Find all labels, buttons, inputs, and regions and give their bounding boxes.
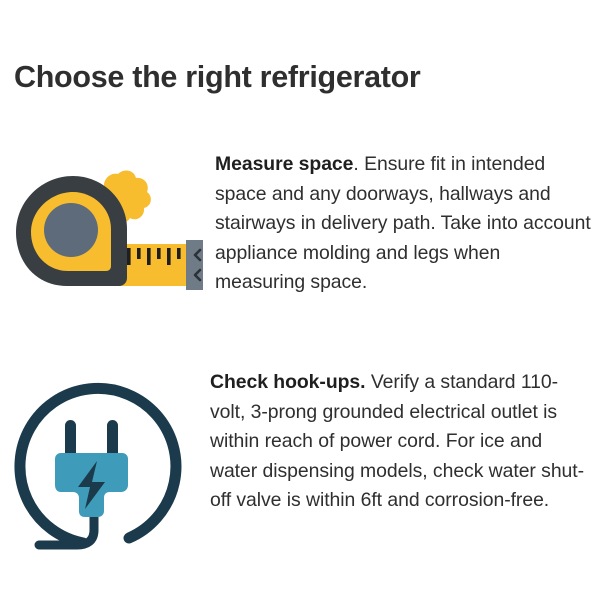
infographic-page: Choose the right refrigerator (0, 0, 600, 600)
feature-row: Measure space. Ensure fit in intended sp… (0, 150, 595, 298)
tape-measure-icon (0, 150, 215, 296)
page-title: Choose the right refrigerator (14, 61, 421, 95)
feature-row: Check hook-ups. Verify a standard 110-vo… (0, 368, 590, 560)
tape-center-hub (44, 203, 98, 257)
feature-lead: Check hook-ups. (210, 371, 365, 393)
tape-end-hook (186, 240, 203, 290)
power-plug-icon (0, 368, 210, 560)
feature-lead: Measure space (215, 153, 353, 175)
feature-text: Measure space. Ensure fit in intended sp… (215, 150, 595, 298)
feature-text: Check hook-ups. Verify a standard 110-vo… (210, 368, 590, 516)
